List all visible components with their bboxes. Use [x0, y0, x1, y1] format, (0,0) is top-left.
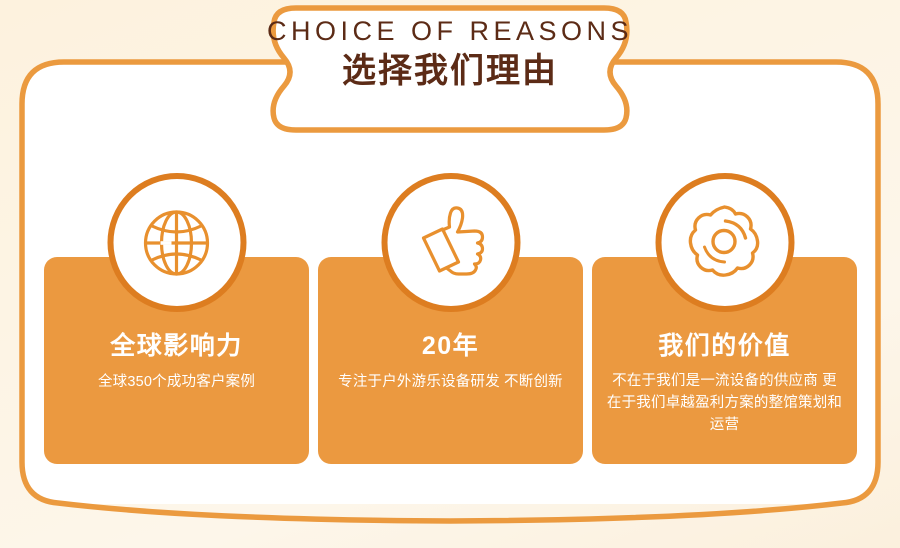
card-description: 全球350个成功客户案例	[98, 371, 255, 393]
reason-card-twenty-years[interactable]: 20年 专注于户外游乐设备研发 不断创新	[318, 257, 583, 464]
reason-cards-row: 全球影响力 全球350个成功客户案例 20年 专注于户外游乐设备研发 不断创新	[44, 257, 857, 464]
thumbs-up-icon	[407, 199, 495, 287]
thumbs-up-icon-badge	[381, 173, 520, 312]
promo-banner-page: CHOICE OF REASONS 选择我们理由 全	[0, 0, 900, 548]
card-title: 我们的价值	[658, 333, 791, 361]
card-description: 专注于户外游乐设备研发 不断创新	[338, 371, 563, 393]
reason-card-our-value[interactable]: 我们的价值 不在于我们是一流设备的供应商 更在于我们卓越盈利方案的整馆策划和运营	[592, 257, 857, 464]
globe-icon	[134, 200, 220, 286]
reason-card-global-influence[interactable]: 全球影响力 全球350个成功客户案例	[44, 257, 309, 464]
gear-icon-badge	[655, 173, 794, 312]
card-description: 不在于我们是一流设备的供应商 更在于我们卓越盈利方案的整馆策划和运营	[606, 370, 843, 437]
card-title: 全球影响力	[110, 333, 243, 361]
globe-icon-badge	[107, 173, 246, 312]
gear-icon	[681, 199, 769, 287]
card-title: 20年	[422, 333, 479, 361]
